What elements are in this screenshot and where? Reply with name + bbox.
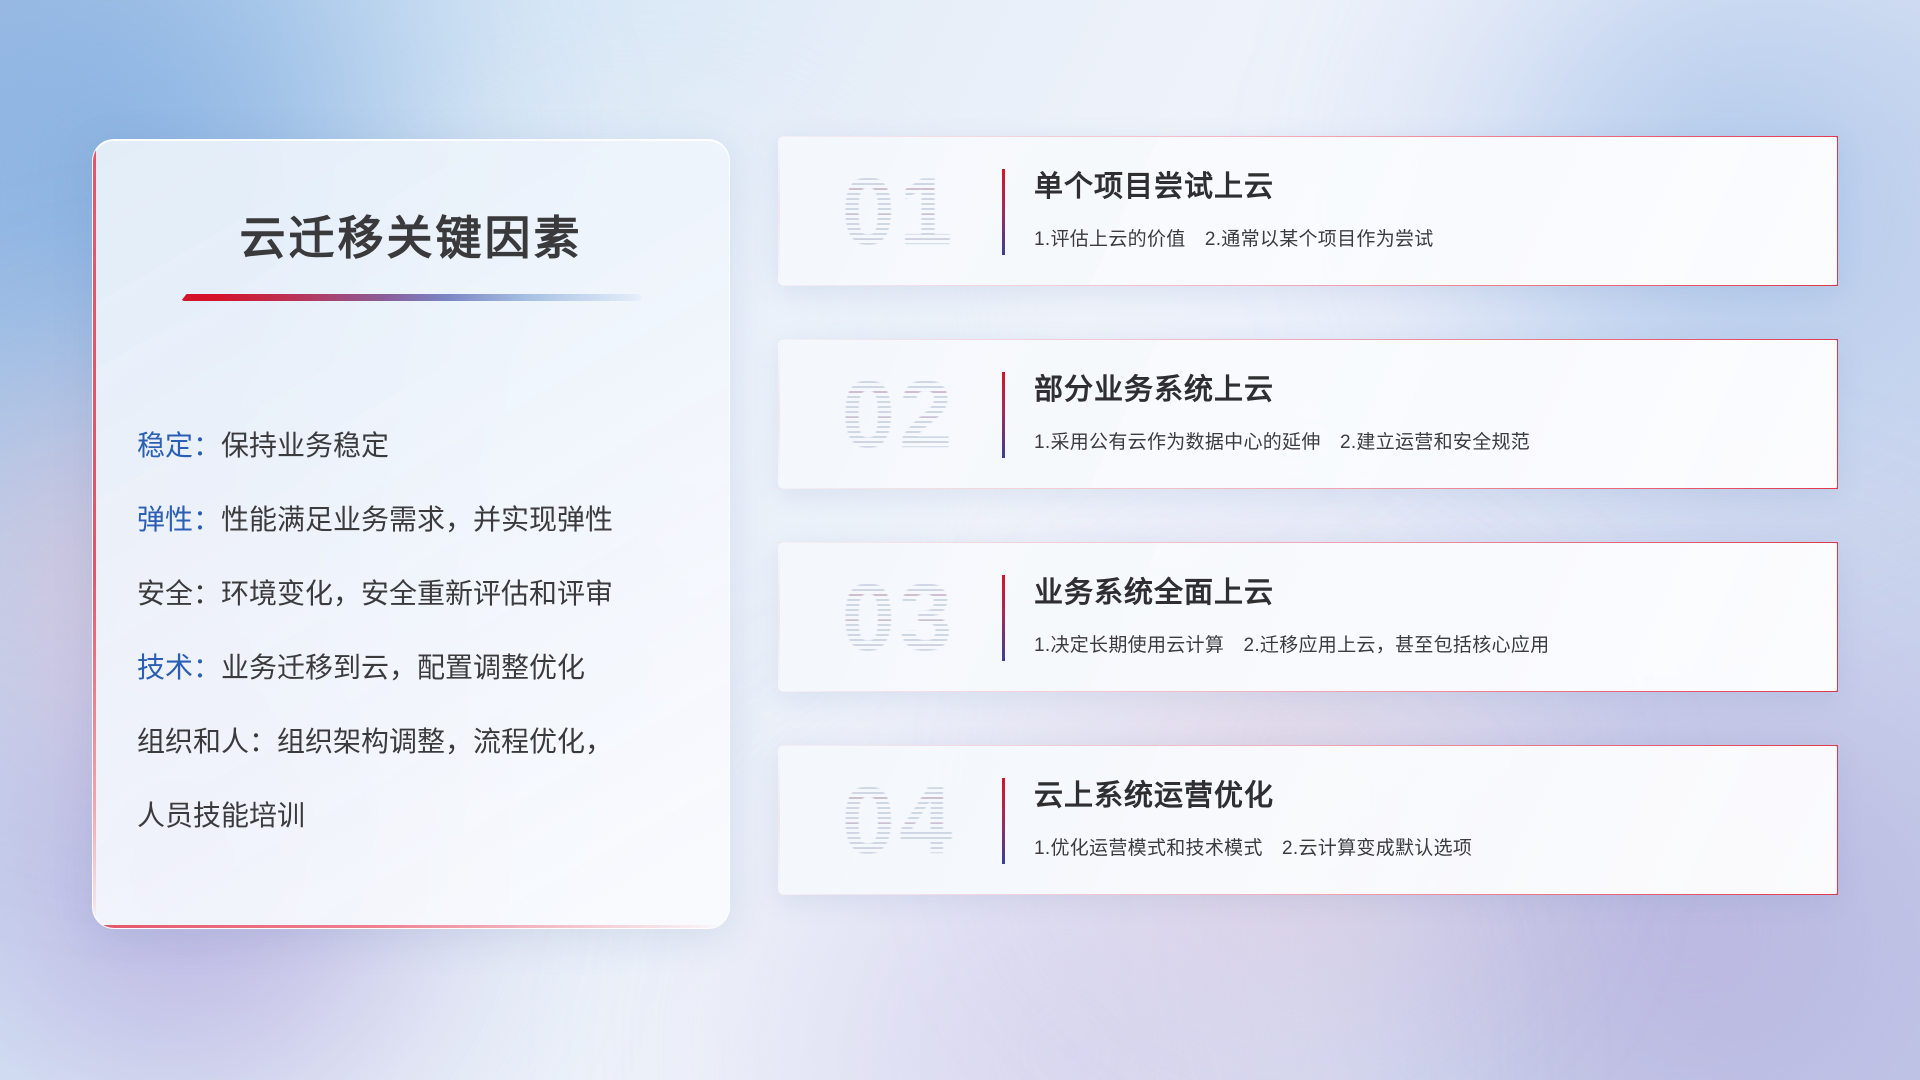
stage-number-watermark: 01 01 <box>804 153 994 271</box>
factor-text: 保持业务稳定 <box>221 430 389 461</box>
stage-number-tint: 03 <box>804 559 994 677</box>
stage-number-tint: 04 <box>804 762 994 880</box>
stage-card-list: 01 01 单个项目尝试上云 1.评估上云的价值 2.通常以某个项目作为尝试 0… <box>778 136 1838 948</box>
stage-number-tint: 02 <box>804 356 994 474</box>
factor-item: 弹性：性能满足业务需求，并实现弹性 <box>137 483 689 557</box>
factor-item: 安全：环境变化，安全重新评估和评审 <box>137 557 689 631</box>
stage-accent-bar <box>1002 169 1005 255</box>
stage-description: 1.采用公有云作为数据中心的延伸 2.建立运营和安全规范 <box>1034 427 1813 454</box>
title-underline-rule <box>181 294 641 301</box>
factor-item: 稳定：保持业务稳定 <box>137 409 689 483</box>
factor-item: 组织和人：组织架构调整，流程优化， <box>137 705 689 779</box>
stage-number-watermark: 02 02 <box>804 356 994 474</box>
factor-text: 环境变化，安全重新评估和评审 <box>221 578 613 609</box>
stage-card[interactable]: 02 02 部分业务系统上云 1.采用公有云作为数据中心的延伸 2.建立运营和安… <box>778 339 1838 489</box>
stage-number-watermark: 03 03 <box>804 559 994 677</box>
factor-list: 稳定：保持业务稳定 弹性：性能满足业务需求，并实现弹性 安全：环境变化，安全重新… <box>93 409 729 853</box>
stage-number-tint: 01 <box>804 153 994 271</box>
stage-accent-bar <box>1002 575 1005 661</box>
factor-text: 业务迁移到云，配置调整优化 <box>221 652 585 683</box>
factor-label: 稳定： <box>137 430 221 461</box>
factor-item-continuation: 人员技能培训 <box>137 779 689 853</box>
panel-title: 云迁移关键因素 <box>93 202 729 268</box>
stage-description: 1.优化运营模式和技术模式 2.云计算变成默认选项 <box>1034 833 1813 860</box>
stage-card-body: 云上系统运营优化 1.优化运营模式和技术模式 2.云计算变成默认选项 <box>1034 772 1813 860</box>
stage-description: 1.评估上云的价值 2.通常以某个项目作为尝试 <box>1034 224 1813 251</box>
factor-text: 组织架构调整，流程优化， <box>277 726 613 757</box>
stage-description: 1.决定长期使用云计算 2.迁移应用上云，甚至包括核心应用 <box>1034 630 1813 657</box>
key-factors-panel: 云迁移关键因素 稳定：保持业务稳定 弹性：性能满足业务需求，并实现弹性 安全：环… <box>92 139 730 929</box>
factor-label: 安全： <box>137 578 221 609</box>
factor-label: 组织和人： <box>137 726 277 757</box>
stage-title: 业务系统全面上云 <box>1034 569 1813 611</box>
factor-label: 技术： <box>137 652 221 683</box>
stage-card-body: 单个项目尝试上云 1.评估上云的价值 2.通常以某个项目作为尝试 <box>1034 163 1813 251</box>
stage-title: 部分业务系统上云 <box>1034 366 1813 408</box>
stage-title: 单个项目尝试上云 <box>1034 163 1813 205</box>
stage-card[interactable]: 03 03 业务系统全面上云 1.决定长期使用云计算 2.迁移应用上云，甚至包括… <box>778 542 1838 692</box>
factor-text: 性能满足业务需求，并实现弹性 <box>221 504 613 535</box>
stage-title: 云上系统运营优化 <box>1034 772 1813 814</box>
stage-card[interactable]: 04 04 云上系统运营优化 1.优化运营模式和技术模式 2.云计算变成默认选项 <box>778 745 1838 895</box>
factor-label: 弹性： <box>137 504 221 535</box>
stage-accent-bar <box>1002 372 1005 458</box>
stage-accent-bar <box>1002 778 1005 864</box>
stage-card[interactable]: 01 01 单个项目尝试上云 1.评估上云的价值 2.通常以某个项目作为尝试 <box>778 136 1838 286</box>
stage-card-body: 部分业务系统上云 1.采用公有云作为数据中心的延伸 2.建立运营和安全规范 <box>1034 366 1813 454</box>
factor-item: 技术：业务迁移到云，配置调整优化 <box>137 631 689 705</box>
stage-card-body: 业务系统全面上云 1.决定长期使用云计算 2.迁移应用上云，甚至包括核心应用 <box>1034 569 1813 657</box>
stage-number-watermark: 04 04 <box>804 762 994 880</box>
